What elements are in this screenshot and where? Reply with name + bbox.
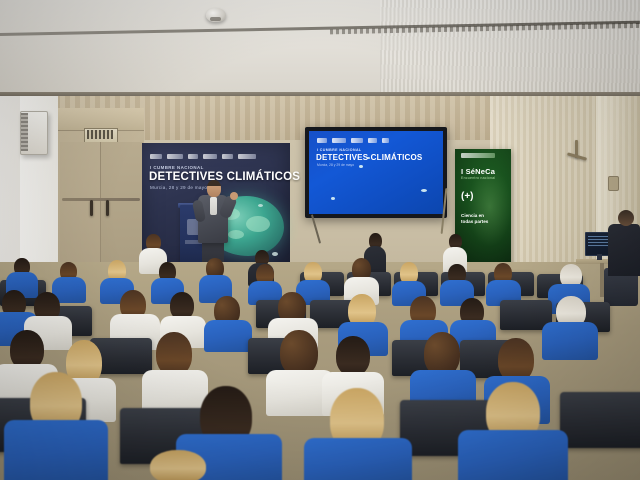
sponsor-logo-icon <box>222 154 233 159</box>
presenter-hand <box>230 192 238 200</box>
seneca-top-logo-icon <box>461 153 495 158</box>
screen-spark-icon <box>359 165 363 168</box>
technician-torso <box>608 224 640 276</box>
plus-symbol-icon: (+) <box>461 191 474 202</box>
seneca-subtitle: Encuentro nacional <box>461 176 495 180</box>
globe-landmass <box>228 230 244 239</box>
sponsor-logo-icon <box>188 154 198 159</box>
attendee-head <box>336 336 370 376</box>
sponsor-logo-icon <box>368 138 377 143</box>
wall-speaker-grille <box>21 113 28 151</box>
auditorium-photo: I CUMBRE NACIONAL DETECTIVES CLIMÁTICOS … <box>0 0 640 480</box>
sponsor-logo-icon <box>317 138 327 143</box>
attendee-torso <box>458 430 568 480</box>
globe-landmass <box>246 216 270 232</box>
attendee-torso <box>204 320 252 352</box>
attendee-torso <box>304 438 412 480</box>
sponsor-logo-icon <box>238 154 256 159</box>
presenter-shirt <box>210 197 217 215</box>
wall-bracket-icon <box>566 140 588 166</box>
sponsor-logo-icon <box>351 138 363 143</box>
seat[interactable] <box>560 392 640 448</box>
backdrop-accent-dot <box>272 252 278 256</box>
attendee-torso <box>542 322 598 360</box>
globe-accent-dot <box>258 204 263 207</box>
screen-date: Murcia, 28 y 29 de mayo <box>317 163 354 167</box>
seneca-tag-line-1: Ciencia en <box>461 213 484 218</box>
sponsor-logo-icon <box>332 138 346 143</box>
monitor-stand <box>597 254 602 260</box>
seneca-tag-line-2: todas partes <box>461 219 488 224</box>
sponsor-logo-icon <box>382 138 389 143</box>
door-push-bar[interactable] <box>62 198 140 201</box>
smoke-detector-icon <box>206 8 226 22</box>
seneca-title: I SéNeCa <box>461 167 495 176</box>
screen-title: DETECTIVES CLIMÁTICOS <box>316 153 422 162</box>
door-left-panel[interactable] <box>60 142 101 270</box>
sponsor-logo-icon <box>150 154 162 159</box>
door-handle-left[interactable] <box>90 200 93 216</box>
exit-sign-grille <box>87 130 113 139</box>
attendee-torso <box>4 420 108 480</box>
door-handle-right[interactable] <box>106 200 109 216</box>
backdrop-eyebrow: I CUMBRE NACIONAL <box>150 165 280 170</box>
ceiling-texture <box>380 0 640 96</box>
presenter-head <box>207 180 221 197</box>
technician-head <box>618 210 634 226</box>
wall-outlet-plate <box>608 176 619 191</box>
attendee-head <box>150 450 206 480</box>
screen-spark-icon <box>331 197 335 200</box>
screen-eyebrow: I CUMBRE NACIONAL <box>317 148 362 152</box>
sponsor-logo-icon <box>167 154 183 159</box>
sponsor-logo-icon <box>203 154 217 159</box>
backdrop-logo-row <box>150 152 276 160</box>
screen-logo-row <box>317 137 417 144</box>
screen-spark-icon <box>421 189 427 192</box>
